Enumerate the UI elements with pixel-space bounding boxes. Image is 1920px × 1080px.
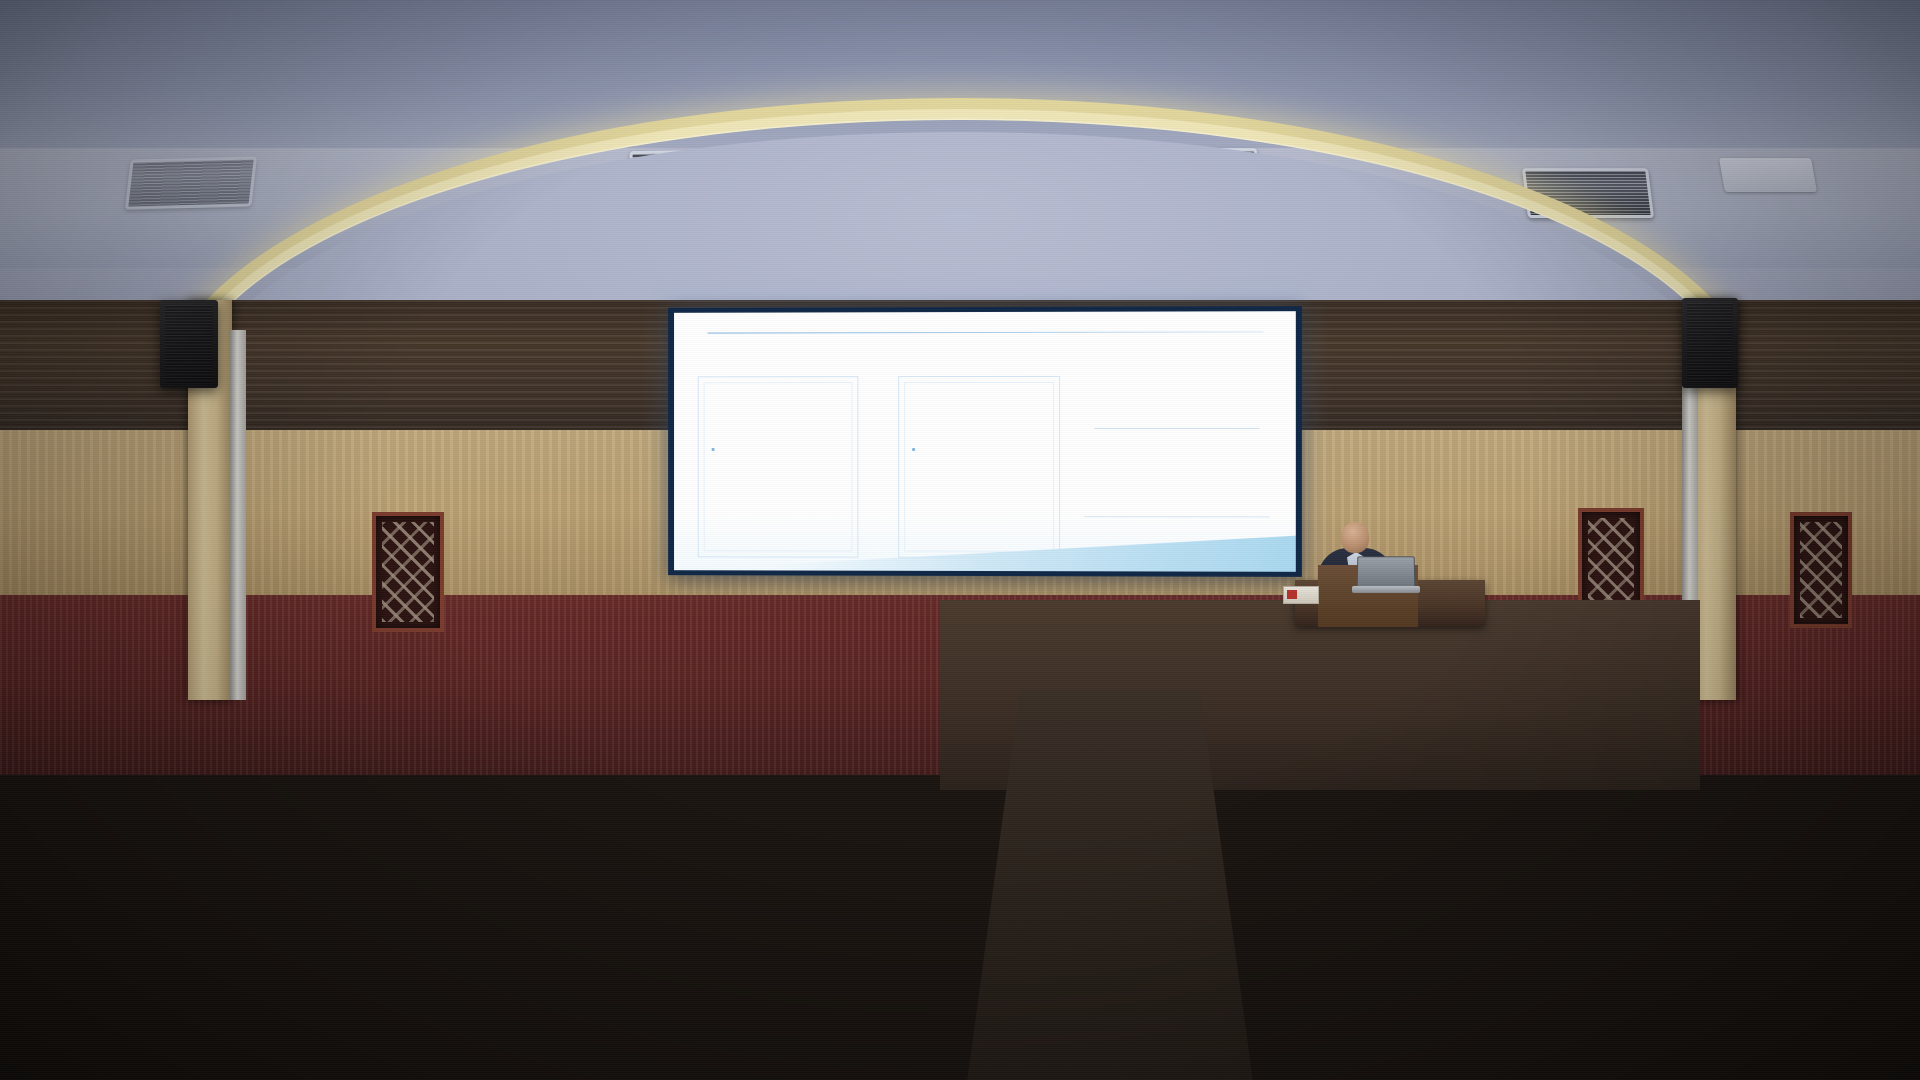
panel-heading (899, 377, 1059, 429)
laptop-base (1352, 586, 1420, 593)
pilaster-left-strip (230, 330, 246, 700)
conference-hall-photo (0, 0, 1920, 1080)
speaker-right (1682, 298, 1738, 388)
slide-panel-row (698, 376, 1060, 558)
speaker-left (160, 300, 218, 388)
lattice-panel-right-b (1790, 512, 1852, 628)
gb-footer-divider (1084, 516, 1269, 517)
lattice-panel-left (372, 512, 444, 632)
ceiling (0, 0, 1920, 310)
panel-dates (898, 376, 1060, 558)
projection-screen (674, 311, 1296, 572)
panel-heading (699, 377, 858, 429)
air-vent (125, 156, 257, 209)
name-card-sign (1283, 586, 1319, 604)
gb-divider (1094, 428, 1259, 429)
gb-standard-cover (1076, 364, 1277, 545)
air-vent (1522, 168, 1654, 218)
presentation-slide (674, 311, 1296, 572)
projection-screen-frame (668, 306, 1302, 577)
laptop-screen (1357, 556, 1416, 588)
panel-issuing-authority (698, 376, 859, 558)
slide-divider (708, 331, 1264, 333)
presenter-head (1341, 522, 1369, 553)
ceiling-panel (1719, 158, 1817, 192)
